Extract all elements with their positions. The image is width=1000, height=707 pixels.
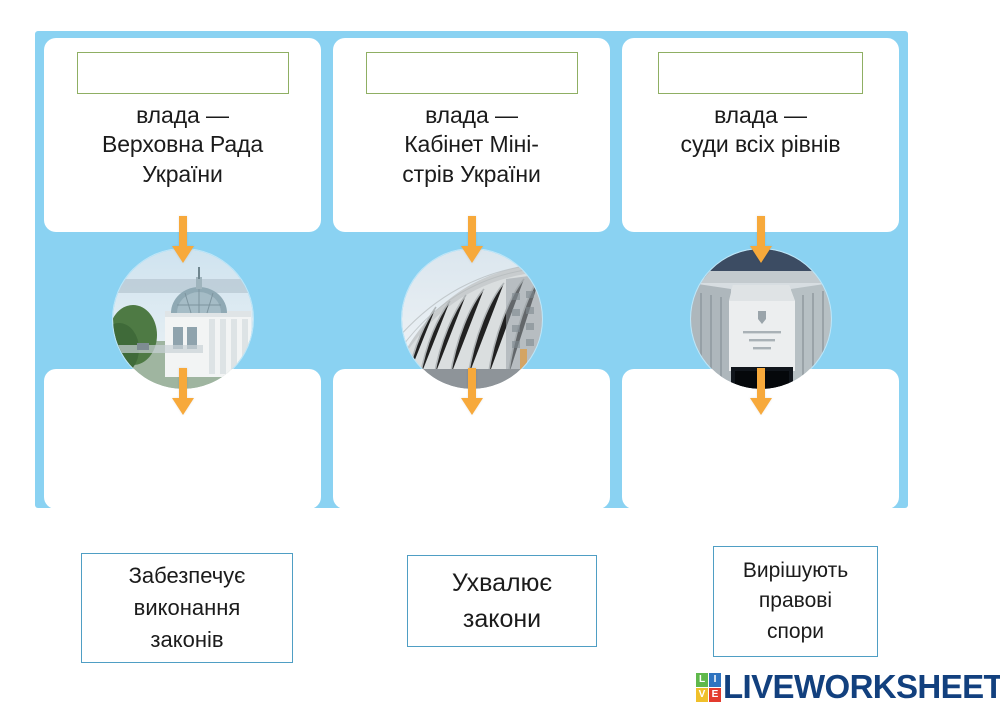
logo-tile-l: L bbox=[696, 673, 708, 687]
logo-tile-i: I bbox=[709, 673, 721, 687]
branch-name-drop-blank[interactable] bbox=[658, 52, 863, 94]
answer-tile-executes-laws[interactable]: Забезпечує виконання законів bbox=[81, 553, 293, 663]
liveworksheets-wordmark: LIVEWORKSHEETS bbox=[723, 668, 1000, 706]
answer-tile-resolves-disputes[interactable]: Вирішують правові спори bbox=[713, 546, 878, 657]
branch-description-label: влада — Кабінет Міні- стрів України bbox=[402, 101, 540, 189]
arrow-down-icon bbox=[170, 368, 196, 416]
branch-top-card: влада — Верховна Рада України bbox=[44, 38, 321, 232]
arrow-down-icon bbox=[459, 216, 485, 264]
branch-description-label: влада — суди всіх рівнів bbox=[681, 101, 841, 160]
arrow-down-icon bbox=[748, 368, 774, 416]
branch-column-legislative: влада — Верховна Рада України bbox=[44, 38, 321, 501]
arrow-down-icon bbox=[459, 368, 485, 416]
branch-top-card: влада — суди всіх рівнів bbox=[622, 38, 899, 232]
liveworksheets-logo-icon: L I V E bbox=[696, 673, 721, 702]
branch-name-drop-blank[interactable] bbox=[77, 52, 289, 94]
branch-column-executive: влада — Кабінет Міні- стрів України bbox=[333, 38, 610, 501]
branch-description-label: влада — Верховна Рада України bbox=[102, 101, 263, 189]
arrow-down-icon bbox=[748, 216, 774, 264]
branch-column-judicial: влада — суди всіх рівнів bbox=[622, 38, 899, 501]
branch-top-card: влада — Кабінет Міні- стрів України bbox=[333, 38, 610, 232]
answer-tile-adopts-laws[interactable]: Ухвалює закони bbox=[407, 555, 597, 647]
logo-tile-e: E bbox=[709, 688, 721, 702]
branches-panel: влада — Верховна Рада України bbox=[35, 31, 908, 508]
arrow-down-icon bbox=[170, 216, 196, 264]
logo-tile-v: V bbox=[696, 688, 708, 702]
branch-columns: влада — Верховна Рада України bbox=[35, 31, 908, 508]
branch-name-drop-blank[interactable] bbox=[366, 52, 578, 94]
liveworksheets-logo[interactable]: L I V E LIVEWORKSHEETS bbox=[696, 668, 1000, 706]
